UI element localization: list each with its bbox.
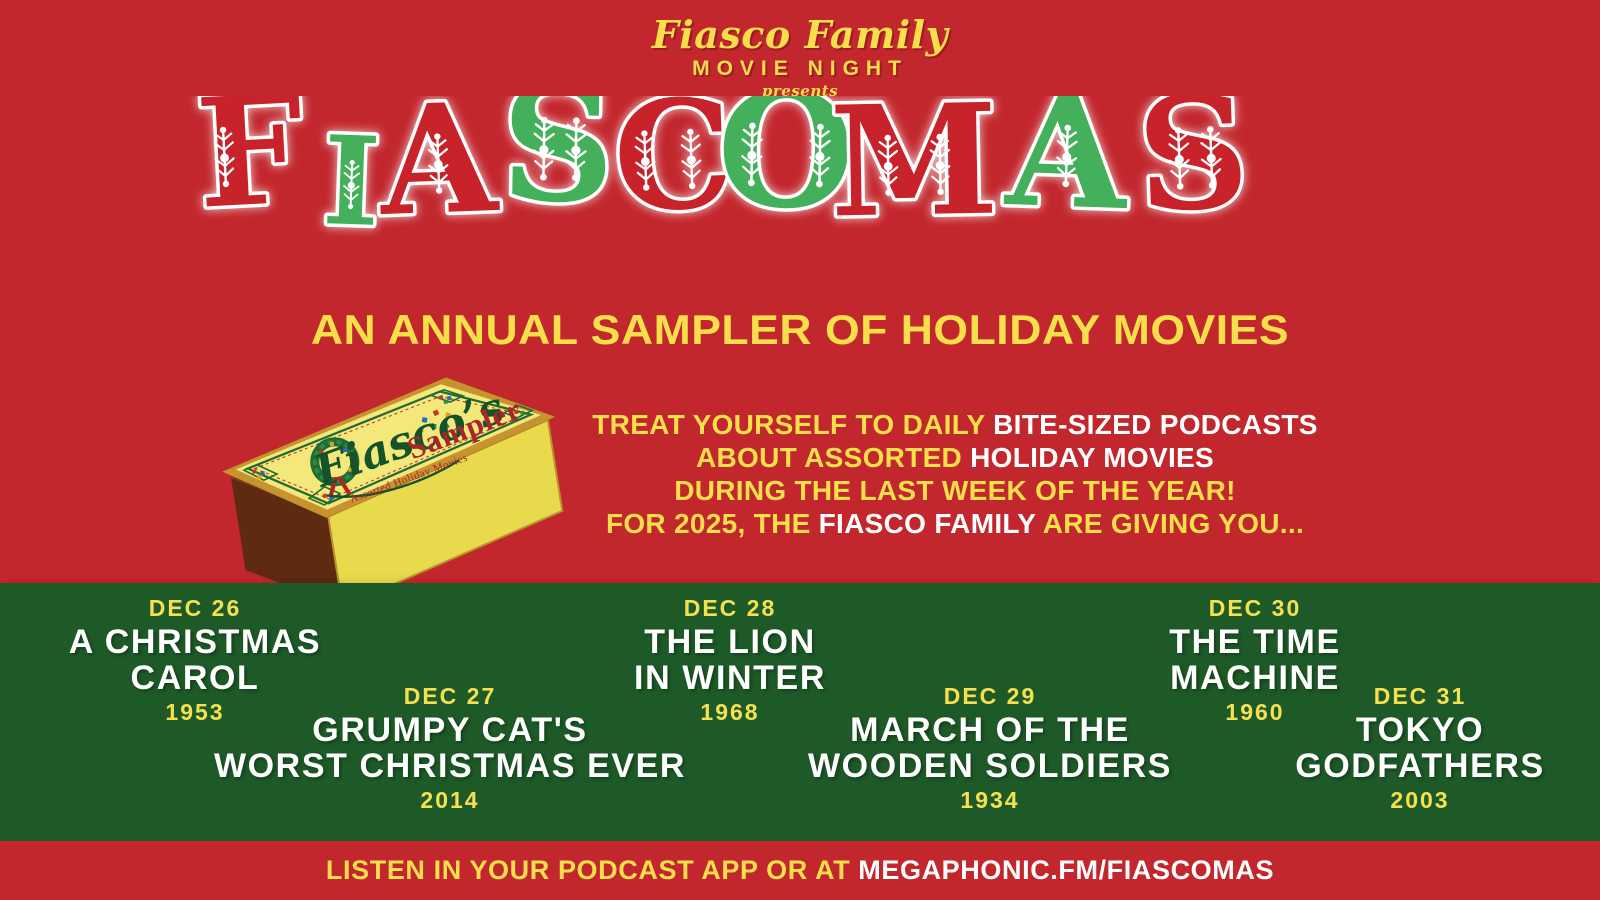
footer-bar: LISTEN IN YOUR PODCAST APP OR AT MEGAPHO… [0,841,1600,900]
lineup-year: 2014 [210,787,690,814]
title-letter-m-6: M [828,96,999,251]
description-run: FOR 2025, THE [606,508,819,539]
title-letter-s-8: S [1134,96,1252,247]
description-text: TREAT YOURSELF TO DAILY BITE-SIZED PODCA… [570,408,1340,540]
description-line-0: TREAT YOURSELF TO DAILY BITE-SIZED PODCA… [570,408,1340,441]
title-letter-f-0: F [192,96,308,243]
lineup-year: 1934 [790,787,1190,814]
lineup-year: 2003 [1240,787,1600,814]
description-line-2: DURING THE LAST WEEK OF THE YEAR! [570,474,1340,507]
description-run: ABOUT ASSORTED [696,442,970,473]
lineup-date: DEC 26 [10,595,380,622]
brand-lockup: Fiasco Family MOVIE NIGHT presents [0,16,1600,100]
description-run: FIASCO FAMILY [819,508,1043,539]
brand-script-title: Fiasco Family [0,16,1600,55]
title-letter-i-1: I [320,108,382,254]
description-line-3: FOR 2025, THE FIASCO FAMILY ARE GIVING Y… [570,507,1340,540]
description-line-1: ABOUT ASSORTED HOLIDAY MOVIES [570,441,1340,474]
lineup-date: DEC 30 [1070,595,1440,622]
lineup-item-6[interactable]: DEC 31TOKYO GODFATHERS2003 [1240,683,1600,814]
description-run: ARE GIVING YOU... [1043,508,1304,539]
description-run: TREAT YOURSELF TO DAILY [592,409,993,440]
sampler-box-illustration: Fiasco’s Sampler Assorted Holiday Movies [205,360,595,620]
subtitle-text: AN ANNUAL SAMPLER OF HOLIDAY MOVIES [0,306,1600,354]
title-letter-s-3: S [499,96,616,239]
svg-text:S: S [1134,96,1252,247]
footer-lead-label: LISTEN IN YOUR PODCAST APP OR AT [326,855,858,885]
lineup-movie-title: TOKYO GODFATHERS [1240,712,1600,784]
description-run: HOLIDAY MOVIES [970,442,1214,473]
svg-text:S: S [499,96,616,239]
poster-canvas: Fiasco Family MOVIE NIGHT presents [0,0,1600,900]
svg-text:F: F [192,96,308,243]
title-letter-a-2: A [375,96,502,250]
description-run: DURING THE LAST WEEK OF THE YEAR! [674,475,1236,506]
footer-url-link[interactable]: MEGAPHONIC.FM/FIASCOMAS [858,855,1274,885]
footer-listen-text: LISTEN IN YOUR PODCAST APP OR AT MEGAPHO… [326,855,1274,886]
page-title: FIASCOMAS [0,96,1600,296]
brand-subtitle: MOVIE NIGHT [0,57,1600,81]
svg-text:M: M [828,96,999,251]
lineup-date: DEC 28 [540,595,920,622]
movie-lineup-band: DEC 26A CHRISTMAS CAROL1953DEC 27GRUMPY … [0,583,1600,841]
description-run: BITE-SIZED PODCASTS [993,409,1318,440]
lineup-date: DEC 31 [1240,683,1600,710]
fiascomas-wordmark: FIASCOMAS [185,96,1415,296]
title-letter-a-7: A [1002,96,1132,245]
